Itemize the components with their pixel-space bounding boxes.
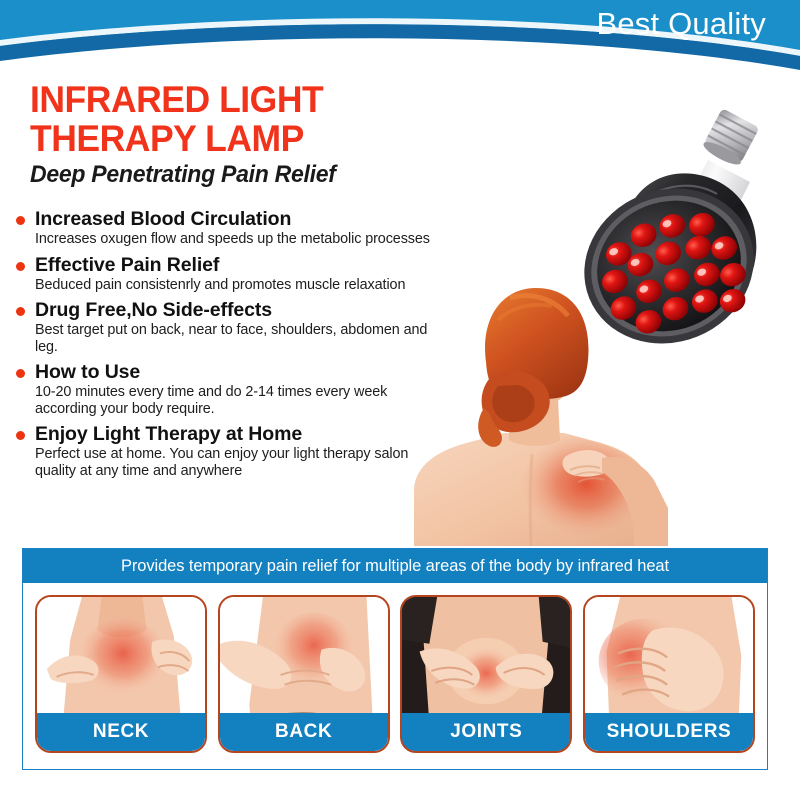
feature-item: Enjoy Light Therapy at Home Perfect use … xyxy=(14,423,434,479)
body-areas-banner: Provides temporary pain relief for multi… xyxy=(23,549,767,583)
header-wave-banner: Best Quality xyxy=(0,0,800,78)
body-areas-section: Provides temporary pain relief for multi… xyxy=(22,548,768,770)
bullet-dot-icon xyxy=(16,216,25,225)
panel-label-neck: NECK xyxy=(37,713,205,751)
feature-item: Effective Pain Relief Beduced pain consi… xyxy=(14,254,434,294)
feature-item: Increased Blood Circulation Increases ox… xyxy=(14,208,434,248)
body-area-panel-neck[interactable]: NECK xyxy=(35,595,207,753)
spine-shading xyxy=(530,454,532,546)
feature-title: Effective Pain Relief xyxy=(35,254,434,277)
bullet-dot-icon xyxy=(16,307,25,316)
hair-bun-inner xyxy=(492,385,534,422)
feature-title: Increased Blood Circulation xyxy=(35,208,434,231)
panel-label-shoulders: SHOULDERS xyxy=(585,713,753,751)
feature-item: Drug Free,No Side-effects Best target pu… xyxy=(14,299,434,355)
title-line-2: THERAPY LAMP xyxy=(30,119,433,158)
product-infographic: Best Quality INFRARED LIGHT THERAPY LAMP… xyxy=(0,0,800,800)
feature-description: Perfect use at home. You can enjoy your … xyxy=(35,446,434,479)
feature-description: Increases oxugen flow and speeds up the … xyxy=(35,231,434,248)
feature-item: How to Use 10-20 minutes every time and … xyxy=(14,361,434,417)
page-title: INFRARED LIGHT THERAPY LAMP Deep Penetra… xyxy=(30,80,450,189)
feature-description: Best target put on back, near to face, s… xyxy=(35,322,434,355)
feature-description: 10-20 minutes every time and do 2-14 tim… xyxy=(35,384,434,417)
title-line-1: INFRARED LIGHT xyxy=(30,80,433,119)
bullet-dot-icon xyxy=(16,369,25,378)
feature-title: How to Use xyxy=(35,361,434,384)
feature-description: Beduced pain consistenrly and promotes m… xyxy=(35,277,434,294)
body-area-panel-back[interactable]: BACK xyxy=(218,595,390,753)
feature-list: Increased Blood Circulation Increases ox… xyxy=(14,208,434,485)
feature-title: Enjoy Light Therapy at Home xyxy=(35,423,434,446)
feature-title: Drug Free,No Side-effects xyxy=(35,299,434,322)
body-area-panel-joints[interactable]: JOINTS xyxy=(400,595,572,753)
panel-label-back: BACK xyxy=(220,713,388,751)
lamp-screw-base xyxy=(701,108,760,168)
bullet-dot-icon xyxy=(16,262,25,271)
panel-label-joints: JOINTS xyxy=(402,713,570,751)
product-photo-lamp xyxy=(565,108,800,348)
best-quality-badge: Best Quality xyxy=(596,6,766,42)
body-area-panel-list: NECK xyxy=(23,583,767,771)
bullet-dot-icon xyxy=(16,431,25,440)
body-area-panel-shoulders[interactable]: SHOULDERS xyxy=(583,595,755,753)
page-subtitle: Deep Penetrating Pain Relief xyxy=(30,161,433,189)
